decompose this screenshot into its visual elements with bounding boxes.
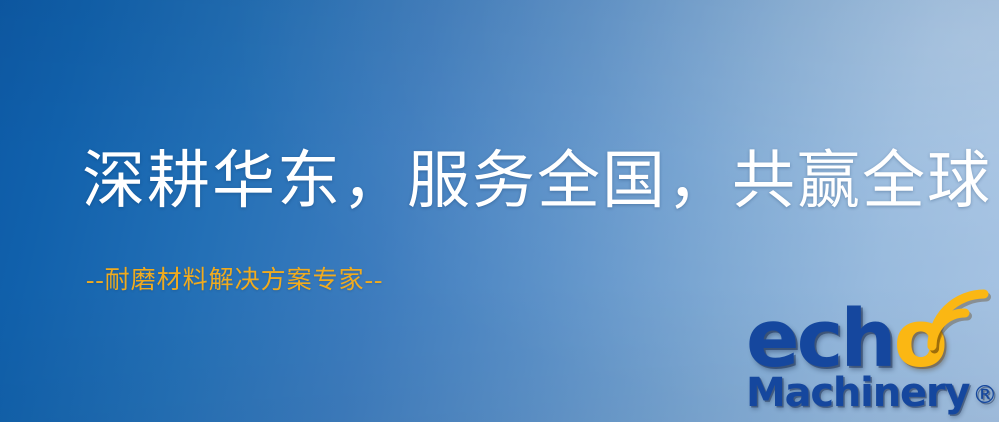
logo-tagline-text: Machinery [746, 370, 969, 416]
echo-machinery-logo[interactable]: echo Machinery® [744, 294, 999, 422]
logo-tagline: Machinery® [746, 373, 997, 413]
hero-banner: 深耕华东，服务全国，共赢全球 --耐磨材料解决方案专家-- echo Machi… [0, 0, 999, 422]
banner-headline: 深耕华东，服务全国，共赢全球 [82, 148, 992, 215]
banner-subtitle: --耐磨材料解决方案专家-- [86, 267, 383, 295]
logo-wordmark: echo [746, 300, 945, 379]
registered-trademark-mark: ® [972, 380, 997, 409]
wifi-signal-arcs-icon [926, 294, 988, 352]
